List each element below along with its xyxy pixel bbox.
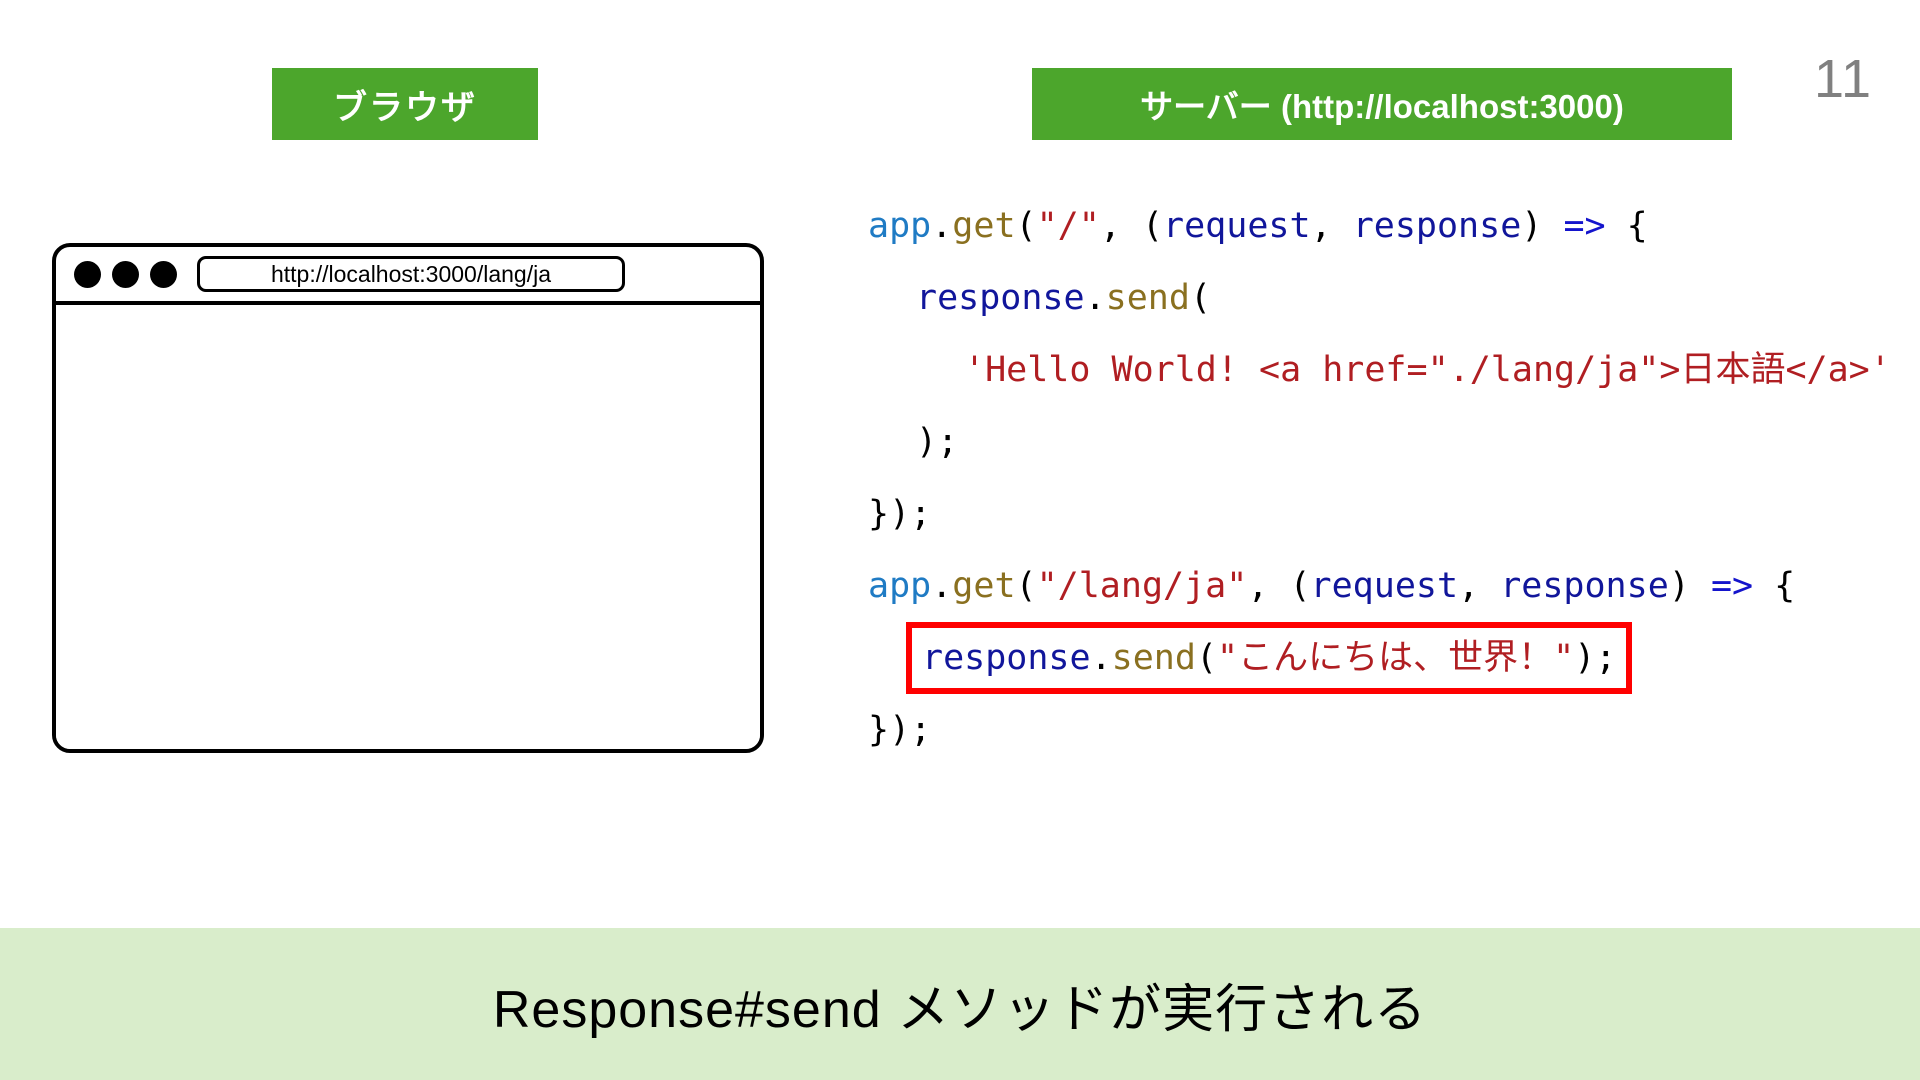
code-token-str: "/" [1037,206,1100,246]
code-token-punct: ) [1669,566,1711,606]
code-token-str: 'Hello World! <a href="./lang/ja">日本語</a… [964,350,1891,390]
code-token-obj: app [868,566,931,606]
browser-chrome: http://localhost:3000/lang/ja [56,247,760,305]
code-token-punct: , [1311,206,1353,246]
code-token-punct: ) [1521,206,1563,246]
code-line: response.send( [868,262,1891,334]
code-line: }); [868,694,1891,766]
code-token-punct: ( [1196,638,1217,678]
window-controls [74,261,177,288]
caption-band: Response#send メソッドが実行される [0,928,1920,1080]
code-token-punct: ( [1016,566,1037,606]
code-token-str: "/lang/ja" [1037,566,1248,606]
page-number: 11 [1814,52,1872,106]
code-token-str: "こんにちは、世界！" [1217,638,1574,678]
code-token-param: request [1163,206,1311,246]
close-dot-icon[interactable] [74,261,101,288]
code-token-param: request [1311,566,1459,606]
server-code-block: app.get("/", (request, response) => {res… [868,190,1891,766]
code-token-fn: send [1106,278,1190,318]
banner-server: サーバー (http://localhost:3000) [1032,68,1732,140]
code-token-punct: ); [916,422,958,462]
banner-server-label: サーバー (http://localhost:3000) [1140,80,1624,128]
code-token-punct: ( [1190,278,1211,318]
code-line: app.get("/", (request, response) => { [868,190,1891,262]
code-token-punct: , ( [1247,566,1310,606]
browser-url-text: http://localhost:3000/lang/ja [271,261,551,288]
code-token-param: response [1353,206,1522,246]
code-token-punct: , ( [1100,206,1163,246]
minimize-dot-icon[interactable] [112,261,139,288]
code-token-param: response [922,638,1091,678]
code-token-fn: send [1112,638,1196,678]
browser-window-mockup: http://localhost:3000/lang/ja [52,243,764,753]
code-line: app.get("/lang/ja", (request, response) … [868,550,1891,622]
code-token-param: response [916,278,1085,318]
browser-url-bar[interactable]: http://localhost:3000/lang/ja [197,256,625,292]
code-token-arrow: => [1563,206,1605,246]
maximize-dot-icon[interactable] [150,261,177,288]
code-token-punct: . [1085,278,1106,318]
code-token-punct: . [1091,638,1112,678]
banner-browser-label: ブラウザ [333,80,477,129]
code-token-punct: ); [1574,638,1616,678]
code-token-param: response [1500,566,1669,606]
code-token-fn: get [952,566,1015,606]
code-token-obj: app [868,206,931,246]
code-line: }); [868,478,1891,550]
code-token-arrow: => [1711,566,1753,606]
code-token-punct: , [1458,566,1500,606]
browser-viewport [56,305,760,749]
code-token-punct: { [1753,566,1795,606]
code-token-fn: get [952,206,1015,246]
code-token-punct: . [931,566,952,606]
code-line: ); [868,406,1891,478]
caption-text: Response#send メソッドが実行される [493,967,1427,1042]
code-token-punct: { [1606,206,1648,246]
code-line-highlighted: response.send("こんにちは、世界！"); [906,622,1632,694]
code-token-punct: ( [1016,206,1037,246]
banner-browser: ブラウザ [272,68,538,140]
code-token-punct: }); [868,494,931,534]
code-token-punct: }); [868,710,931,750]
code-line: 'Hello World! <a href="./lang/ja">日本語</a… [868,334,1891,406]
code-token-punct: . [931,206,952,246]
